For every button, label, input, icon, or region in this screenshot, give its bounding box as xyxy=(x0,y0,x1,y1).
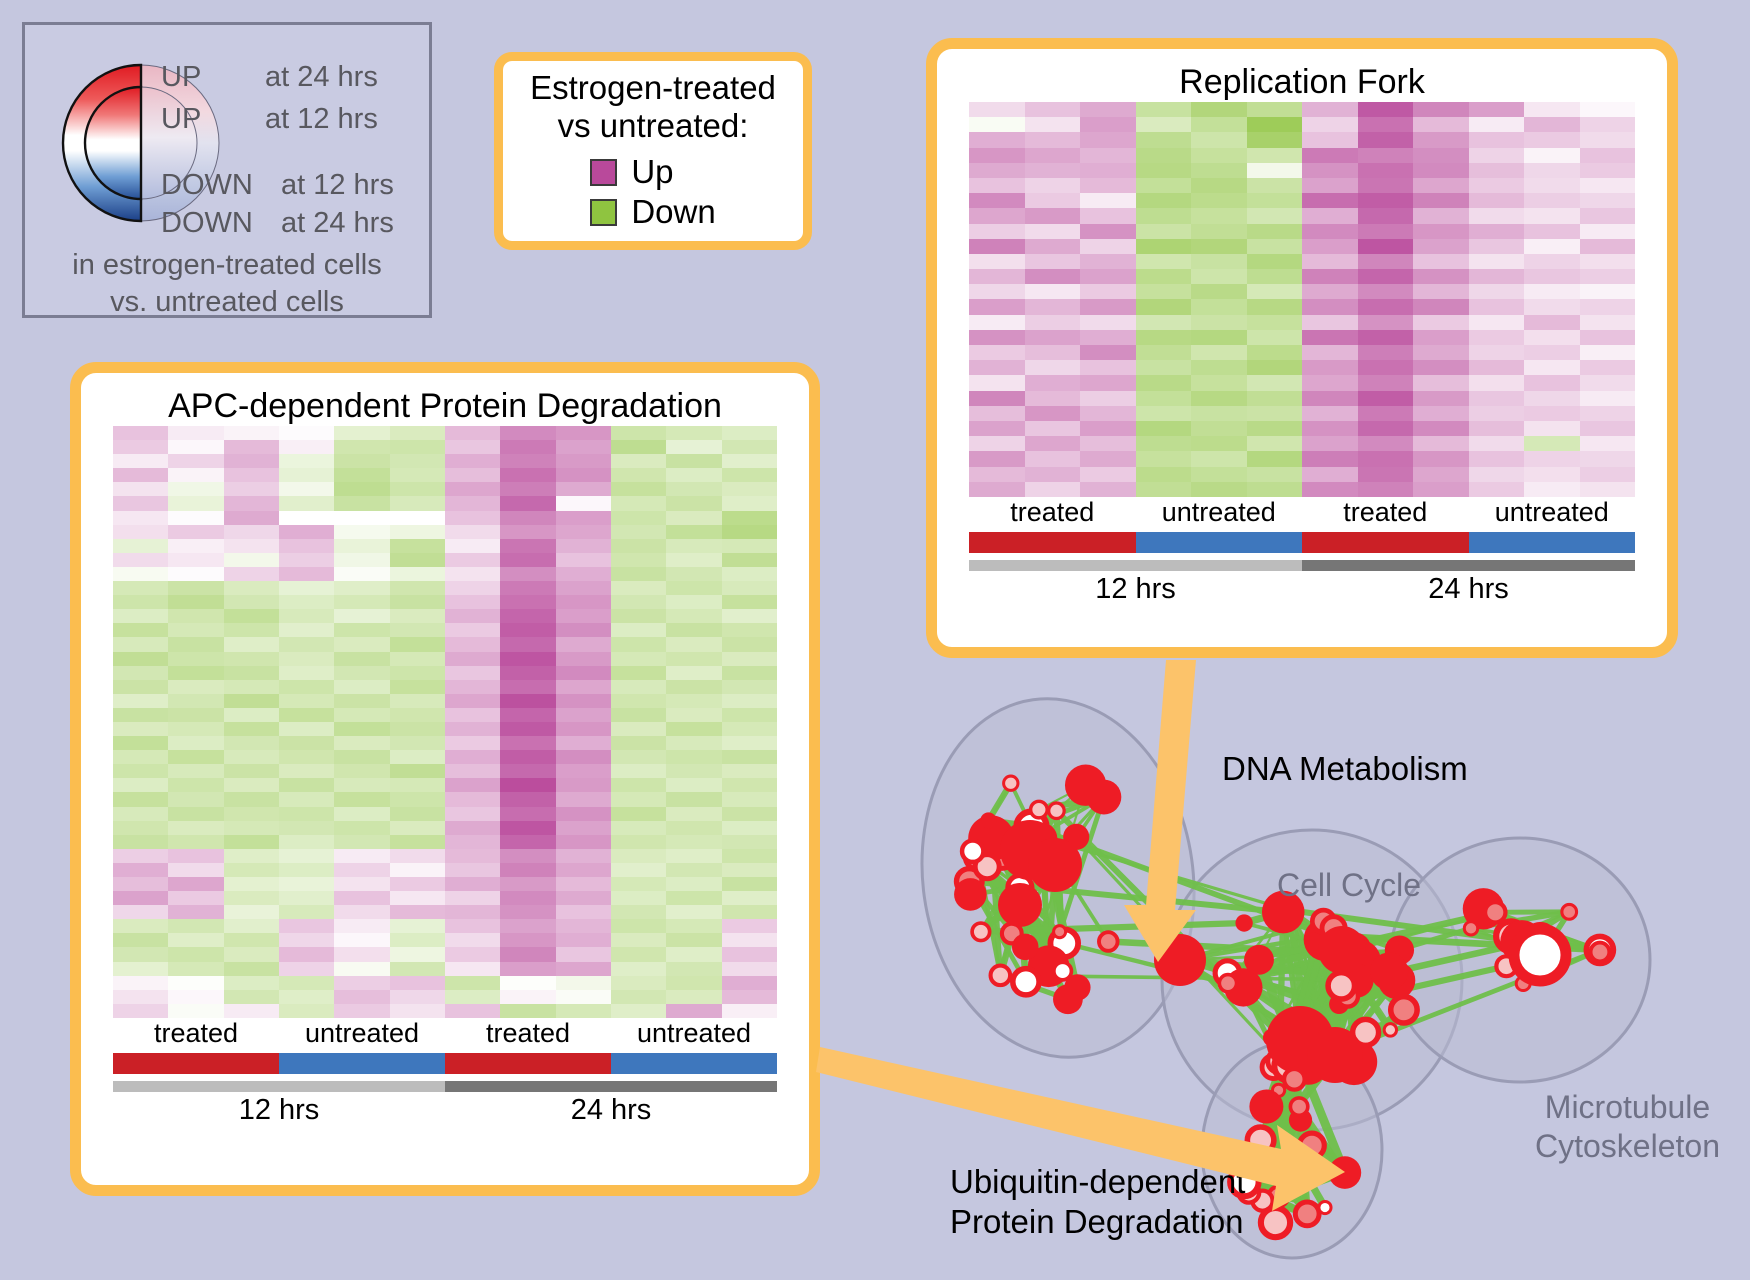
heatmap-cell xyxy=(500,539,555,553)
heatmap-cell xyxy=(1358,254,1414,269)
heatmap-cell xyxy=(445,933,500,947)
heatmap-cell xyxy=(279,821,334,835)
heatmap-cell xyxy=(1136,239,1192,254)
down-color-swatch xyxy=(590,199,617,226)
heatmap-cell xyxy=(113,849,168,863)
heatmap-cell xyxy=(1080,163,1136,178)
heatmap-cell xyxy=(224,877,279,891)
heatmap-cell xyxy=(556,807,611,821)
heatmap-cell xyxy=(113,496,168,510)
heatmap-cell xyxy=(390,666,445,680)
heatmap-cell xyxy=(279,525,334,539)
heatmap-cell xyxy=(279,609,334,623)
cluster-label-microtubule-line1: Microtubule xyxy=(1535,1088,1720,1127)
heatmap-cell xyxy=(224,919,279,933)
heatmap-cell xyxy=(1580,148,1636,163)
heatmap-cell xyxy=(611,482,666,496)
heatmap-cell xyxy=(666,567,721,581)
heatmap-cell xyxy=(969,208,1025,223)
heatmap-cell xyxy=(279,764,334,778)
timepoint-labels-apc: 12 hrs24 hrs xyxy=(113,1094,777,1127)
heatmap-cell xyxy=(1469,132,1525,147)
heatmap-cell xyxy=(556,877,611,891)
network-node xyxy=(1485,902,1505,922)
heatmap-cell xyxy=(168,807,223,821)
heatmap-cell xyxy=(611,933,666,947)
heatmap-cell xyxy=(611,1004,666,1018)
heatmap-cell xyxy=(666,525,721,539)
network-node xyxy=(1244,945,1274,975)
heatmap-cell xyxy=(1025,269,1081,284)
heatmap-cell xyxy=(666,553,721,567)
heatmap-cell xyxy=(666,990,721,1004)
heatmap-cell xyxy=(1580,193,1636,208)
heatmap-cell xyxy=(279,694,334,708)
heatmap-cell xyxy=(334,905,389,919)
heatmap-cell xyxy=(666,1004,721,1018)
heatmap-cell xyxy=(1191,193,1247,208)
heatmap-cell xyxy=(666,637,721,651)
heatmap-cell xyxy=(1524,117,1580,132)
heatmap-cell xyxy=(113,863,168,877)
heatmap-cell xyxy=(969,102,1025,117)
heatmap-cell xyxy=(1247,299,1303,314)
heatmap-cell xyxy=(334,792,389,806)
heatmap-cell xyxy=(1191,178,1247,193)
legend-down-row: Down xyxy=(590,193,715,231)
heatmap-cell xyxy=(1136,163,1192,178)
heatmap-cell xyxy=(1080,330,1136,345)
heatmap-cell xyxy=(1136,451,1192,466)
heatmap-cell xyxy=(445,440,500,454)
heatmap-cell xyxy=(168,835,223,849)
heatmap-cell xyxy=(611,891,666,905)
heatmap-cell xyxy=(390,581,445,595)
heatmap-cell xyxy=(666,595,721,609)
heatmap-cell xyxy=(556,539,611,553)
heatmap-cell xyxy=(1469,299,1525,314)
heatmap-cell xyxy=(113,609,168,623)
heatmap-cell xyxy=(611,821,666,835)
heatmap-cell xyxy=(1025,315,1081,330)
heatmap-cell xyxy=(1080,451,1136,466)
heatmap-cell xyxy=(168,609,223,623)
legend-up12-label: UP xyxy=(161,103,201,136)
heatmap-cell xyxy=(1580,224,1636,239)
legend-up-row: Up xyxy=(590,153,715,191)
heatmap-cell xyxy=(113,637,168,651)
heatmap-cell xyxy=(113,750,168,764)
heatmap-cell xyxy=(279,637,334,651)
heatmap-cell xyxy=(390,919,445,933)
heatmap-cell xyxy=(1191,254,1247,269)
heatmap-cell xyxy=(1302,284,1358,299)
heatmap-cell xyxy=(113,539,168,553)
heatmap-cell xyxy=(334,482,389,496)
heatmap-cell xyxy=(1358,132,1414,147)
heatmap-cell xyxy=(334,990,389,1004)
heatmap-cell xyxy=(500,511,555,525)
heatmap-cell xyxy=(334,764,389,778)
heatmap-cell xyxy=(1413,148,1469,163)
heatmap-cell xyxy=(500,652,555,666)
heatmap-cell xyxy=(224,764,279,778)
heatmap-cell xyxy=(556,750,611,764)
heatmap-cell xyxy=(1136,299,1192,314)
network-node xyxy=(1054,962,1072,980)
heatmap-cell xyxy=(1025,436,1081,451)
network-node xyxy=(1004,776,1018,790)
heatmap-cell xyxy=(1191,224,1247,239)
heatmap-cell xyxy=(334,877,389,891)
heatmap-cell xyxy=(1302,224,1358,239)
heatmap-cell xyxy=(1358,208,1414,223)
heatmap-cell xyxy=(445,905,500,919)
heatmap-cell xyxy=(1136,269,1192,284)
heatmap-cell xyxy=(279,426,334,440)
heatmap-cell xyxy=(224,821,279,835)
network-node xyxy=(998,883,1042,927)
heatmap-cell xyxy=(1469,117,1525,132)
network-node xyxy=(1562,904,1577,919)
treatment-color-segment xyxy=(1302,532,1469,553)
heatmap-cell xyxy=(1247,284,1303,299)
heatmap-cell xyxy=(445,764,500,778)
heatmap-cell xyxy=(1136,436,1192,451)
heatmap-cell xyxy=(1025,330,1081,345)
heatmap-cell xyxy=(224,637,279,651)
heatmap-cell xyxy=(1025,375,1081,390)
heatmap-cell xyxy=(1302,102,1358,117)
heatmap-cell xyxy=(666,919,721,933)
timepoint-color-segment xyxy=(969,560,1302,571)
heatmap-cell xyxy=(113,581,168,595)
heatmap-cell xyxy=(1247,330,1303,345)
heatmap-cell xyxy=(168,905,223,919)
heatmap-cell xyxy=(969,178,1025,193)
heatmap-cell xyxy=(168,426,223,440)
heatmap-cell xyxy=(611,849,666,863)
heatmap-cell xyxy=(611,637,666,651)
heatmap-cell xyxy=(1469,436,1525,451)
heatmap-cell xyxy=(1080,421,1136,436)
network-node xyxy=(954,878,987,911)
heatmap-cell xyxy=(113,764,168,778)
heatmap-cell xyxy=(168,567,223,581)
heatmap-cell xyxy=(1413,451,1469,466)
heatmap-cell xyxy=(1191,269,1247,284)
heatmap-cell xyxy=(1191,148,1247,163)
heatmap-cell xyxy=(113,525,168,539)
heatmap-cell xyxy=(1191,299,1247,314)
heatmap-cell xyxy=(722,637,777,651)
heatmap-cell xyxy=(611,525,666,539)
heatmap-cell xyxy=(113,454,168,468)
heatmap-cell xyxy=(1136,132,1192,147)
heatmap-cell xyxy=(1524,451,1580,466)
heatmap-cell xyxy=(113,1004,168,1018)
heatmap-cell xyxy=(500,609,555,623)
heatmap-cell xyxy=(279,807,334,821)
heatmap-cell xyxy=(722,792,777,806)
heatmap-cell xyxy=(722,736,777,750)
heatmap-cell xyxy=(168,933,223,947)
heatmap-cell xyxy=(1469,284,1525,299)
heatmap-cell xyxy=(1136,224,1192,239)
timepoint-bar-apc xyxy=(113,1081,777,1092)
heatmap-cell xyxy=(445,807,500,821)
heatmap-cell xyxy=(390,947,445,961)
heatmap-cell xyxy=(666,666,721,680)
heatmap-cell xyxy=(611,609,666,623)
network-node xyxy=(972,923,990,941)
heatmap-cell xyxy=(500,891,555,905)
heatmap-cell xyxy=(113,511,168,525)
heatmap-cell xyxy=(168,623,223,637)
heatmap-cell xyxy=(1580,208,1636,223)
heatmap-cell xyxy=(1524,254,1580,269)
heatmap-cell xyxy=(224,539,279,553)
heatmap-cell xyxy=(168,736,223,750)
heatmap-cell xyxy=(666,905,721,919)
network-node xyxy=(1329,1156,1362,1189)
heatmap-cell xyxy=(224,962,279,976)
down-legend-label: Down xyxy=(631,193,715,231)
heatmap-cell xyxy=(1580,163,1636,178)
up-legend-label: Up xyxy=(631,153,673,191)
heatmap-cell xyxy=(1580,345,1636,360)
heatmap-cell xyxy=(445,511,500,525)
heatmap-cell xyxy=(224,807,279,821)
heatmap-cell xyxy=(722,652,777,666)
heatmap-cell xyxy=(1191,451,1247,466)
heatmap-cell xyxy=(556,708,611,722)
heatmap-cell xyxy=(224,891,279,905)
heatmap-cell xyxy=(1524,421,1580,436)
heatmap-cell xyxy=(1469,269,1525,284)
heatmap-cell xyxy=(666,792,721,806)
heatmap-cell xyxy=(1413,467,1469,482)
heatmap-cell xyxy=(1080,375,1136,390)
heatmap-cell xyxy=(168,750,223,764)
heatmap-cell xyxy=(611,468,666,482)
heatmap-cell xyxy=(611,426,666,440)
legend-up24-label: UP xyxy=(161,61,201,94)
heatmap-cell xyxy=(1358,375,1414,390)
heatmap-cell xyxy=(1080,269,1136,284)
estrogen-legend-header-line2: vs untreated: xyxy=(530,107,776,145)
heatmap-cell xyxy=(1025,406,1081,421)
heatmap-cell xyxy=(279,962,334,976)
sample-group-label: untreated xyxy=(1469,497,1636,528)
panel-replication-title: Replication Fork xyxy=(937,63,1667,102)
heatmap-cell xyxy=(224,623,279,637)
heatmap-cell xyxy=(1080,239,1136,254)
heatmap-cell xyxy=(722,454,777,468)
heatmap-cell xyxy=(1247,102,1303,117)
heatmap-cell xyxy=(279,511,334,525)
heatmap-cell xyxy=(224,708,279,722)
heatmap-cell xyxy=(224,652,279,666)
heatmap-cell xyxy=(224,468,279,482)
sample-group-label: untreated xyxy=(1136,497,1303,528)
heatmap-cell xyxy=(1580,375,1636,390)
heatmap-cell xyxy=(1191,375,1247,390)
heatmap-cell xyxy=(556,637,611,651)
heatmap-cell xyxy=(1524,163,1580,178)
heatmap-cell xyxy=(279,919,334,933)
sample-group-label: treated xyxy=(445,1018,611,1049)
timepoint-label: 12 hrs xyxy=(113,1094,445,1127)
heatmap-cell xyxy=(722,962,777,976)
heatmap-cell xyxy=(611,440,666,454)
heatmap-cell xyxy=(969,269,1025,284)
heatmap-cell xyxy=(390,764,445,778)
heatmap-cell xyxy=(500,440,555,454)
heatmap-cell xyxy=(224,680,279,694)
heatmap-cell xyxy=(969,254,1025,269)
heatmap-cell xyxy=(1358,467,1414,482)
legend-caption-line1: in estrogen-treated cells xyxy=(25,247,429,284)
heatmap-cell xyxy=(334,736,389,750)
heatmap-cell xyxy=(279,553,334,567)
heatmap-cell xyxy=(168,652,223,666)
heatmap-cell xyxy=(390,933,445,947)
heatmap-cell xyxy=(556,595,611,609)
heatmap-cell xyxy=(611,750,666,764)
heatmap-cell xyxy=(1080,102,1136,117)
heatmap-cell xyxy=(390,849,445,863)
heatmap-cell xyxy=(722,1004,777,1018)
heatmap-cell xyxy=(1580,178,1636,193)
heatmap-cell xyxy=(666,609,721,623)
heatmap-cell xyxy=(1469,224,1525,239)
heatmap-cell xyxy=(1580,330,1636,345)
heatmap-cell xyxy=(611,511,666,525)
heatmap-cell xyxy=(1080,315,1136,330)
network-node xyxy=(1065,765,1106,806)
heatmap-cell xyxy=(722,764,777,778)
heatmap-cell xyxy=(1524,360,1580,375)
heatmap-cell xyxy=(1469,148,1525,163)
heatmap-cell xyxy=(1136,193,1192,208)
heatmap-cell xyxy=(168,595,223,609)
heatmap-cell xyxy=(279,905,334,919)
heatmap-cell xyxy=(168,891,223,905)
heatmap-cell xyxy=(1080,467,1136,482)
heatmap-cell xyxy=(500,694,555,708)
heatmap-cell xyxy=(1413,208,1469,223)
network-node xyxy=(1012,934,1039,961)
heatmap-cell xyxy=(1302,254,1358,269)
heatmap-cell xyxy=(1302,467,1358,482)
heatmap-cell xyxy=(556,553,611,567)
network-node xyxy=(1219,975,1236,992)
treatment-color-segment xyxy=(1136,532,1303,553)
heatmap-cell xyxy=(611,807,666,821)
heatmap-cell xyxy=(500,807,555,821)
sample-group-label: treated xyxy=(969,497,1136,528)
heatmap-cell xyxy=(500,581,555,595)
heatmap-cell xyxy=(611,581,666,595)
heatmap-cell xyxy=(445,778,500,792)
heatmap-cell xyxy=(556,581,611,595)
heatmap-cell xyxy=(1191,284,1247,299)
treatment-color-segment xyxy=(113,1053,279,1074)
heatmap-cell xyxy=(334,722,389,736)
heatmap-cell xyxy=(1413,391,1469,406)
heatmap-cell xyxy=(969,117,1025,132)
heatmap-cell xyxy=(722,440,777,454)
heatmap-cell xyxy=(390,694,445,708)
heatmap-cell xyxy=(722,750,777,764)
heatmap-cell xyxy=(224,750,279,764)
heatmap-cell xyxy=(1580,421,1636,436)
timepoint-color-segment xyxy=(1302,560,1635,571)
heatmap-cell xyxy=(1247,436,1303,451)
heatmap-cell xyxy=(1524,148,1580,163)
heatmap-cell xyxy=(556,511,611,525)
heatmap-cell xyxy=(168,877,223,891)
heatmap-cell xyxy=(113,792,168,806)
timepoint-label: 24 hrs xyxy=(1302,573,1635,606)
heatmap-cell xyxy=(722,539,777,553)
heatmap-cell xyxy=(390,976,445,990)
heatmap-cell xyxy=(334,525,389,539)
heatmap-cell xyxy=(113,553,168,567)
heatmap-cell xyxy=(722,708,777,722)
treatment-bar-replication xyxy=(969,532,1635,553)
heatmap-cell xyxy=(390,454,445,468)
legend-down12-time: at 12 hrs xyxy=(281,169,394,202)
heatmap-cell xyxy=(556,722,611,736)
heatmap-cell xyxy=(279,482,334,496)
heatmap-cell xyxy=(1469,315,1525,330)
heatmap-cell xyxy=(1469,482,1525,497)
heatmap-cell xyxy=(1136,330,1192,345)
network-node xyxy=(962,841,983,862)
heatmap-cell xyxy=(1524,269,1580,284)
heatmap-cell xyxy=(224,454,279,468)
heatmap-cell xyxy=(1358,299,1414,314)
heatmap-cell xyxy=(611,680,666,694)
heatmap-cell xyxy=(334,933,389,947)
heatmap-cell xyxy=(113,567,168,581)
heatmap-cell xyxy=(556,891,611,905)
heatmap-cell xyxy=(1524,193,1580,208)
heatmap-cell xyxy=(168,990,223,1004)
heatmap-cell xyxy=(224,849,279,863)
heatmap-cell xyxy=(168,722,223,736)
heatmap-cell xyxy=(556,1004,611,1018)
heatmap-cell xyxy=(445,976,500,990)
heatmap-cell xyxy=(611,553,666,567)
heatmap-cell xyxy=(722,553,777,567)
heatmap-cell xyxy=(113,623,168,637)
heatmap-cell xyxy=(969,284,1025,299)
heatmap-cell xyxy=(969,451,1025,466)
heatmap-cell xyxy=(279,680,334,694)
heatmap-cell xyxy=(168,525,223,539)
heatmap-cell xyxy=(390,1004,445,1018)
heatmap-cell xyxy=(1191,482,1247,497)
heatmap-cell xyxy=(1413,284,1469,299)
heatmap-cell xyxy=(279,440,334,454)
heatmap-cell xyxy=(224,581,279,595)
heatmap-cell xyxy=(390,962,445,976)
heatmap-cell xyxy=(1413,299,1469,314)
heatmap-cell xyxy=(556,482,611,496)
